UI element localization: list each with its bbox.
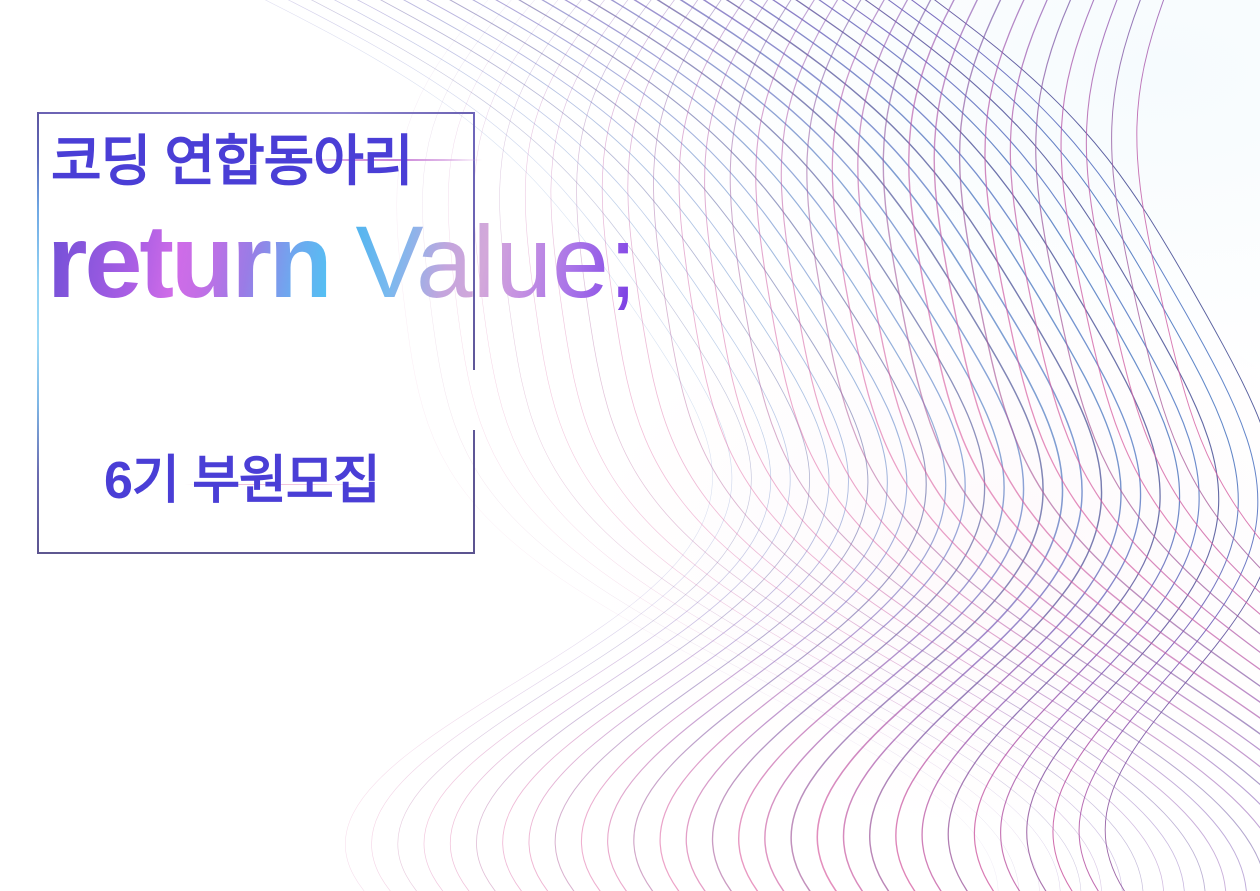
recruit-tagline: 6기 부원모집 bbox=[104, 455, 380, 507]
club-tagline: 코딩 연합동아리 bbox=[51, 134, 412, 189]
frame-border-top bbox=[37, 112, 475, 114]
frame-border-bottom bbox=[37, 552, 475, 554]
frame-border-left bbox=[37, 112, 39, 554]
headline: returnValue; bbox=[47, 210, 637, 314]
headline-value: Value; bbox=[355, 205, 637, 319]
poster-canvas: 코딩 연합동아리 returnValue; 6기 부원모집 bbox=[0, 0, 1260, 891]
headline-return: return bbox=[47, 204, 329, 320]
frame-border-right-lower bbox=[473, 430, 475, 554]
